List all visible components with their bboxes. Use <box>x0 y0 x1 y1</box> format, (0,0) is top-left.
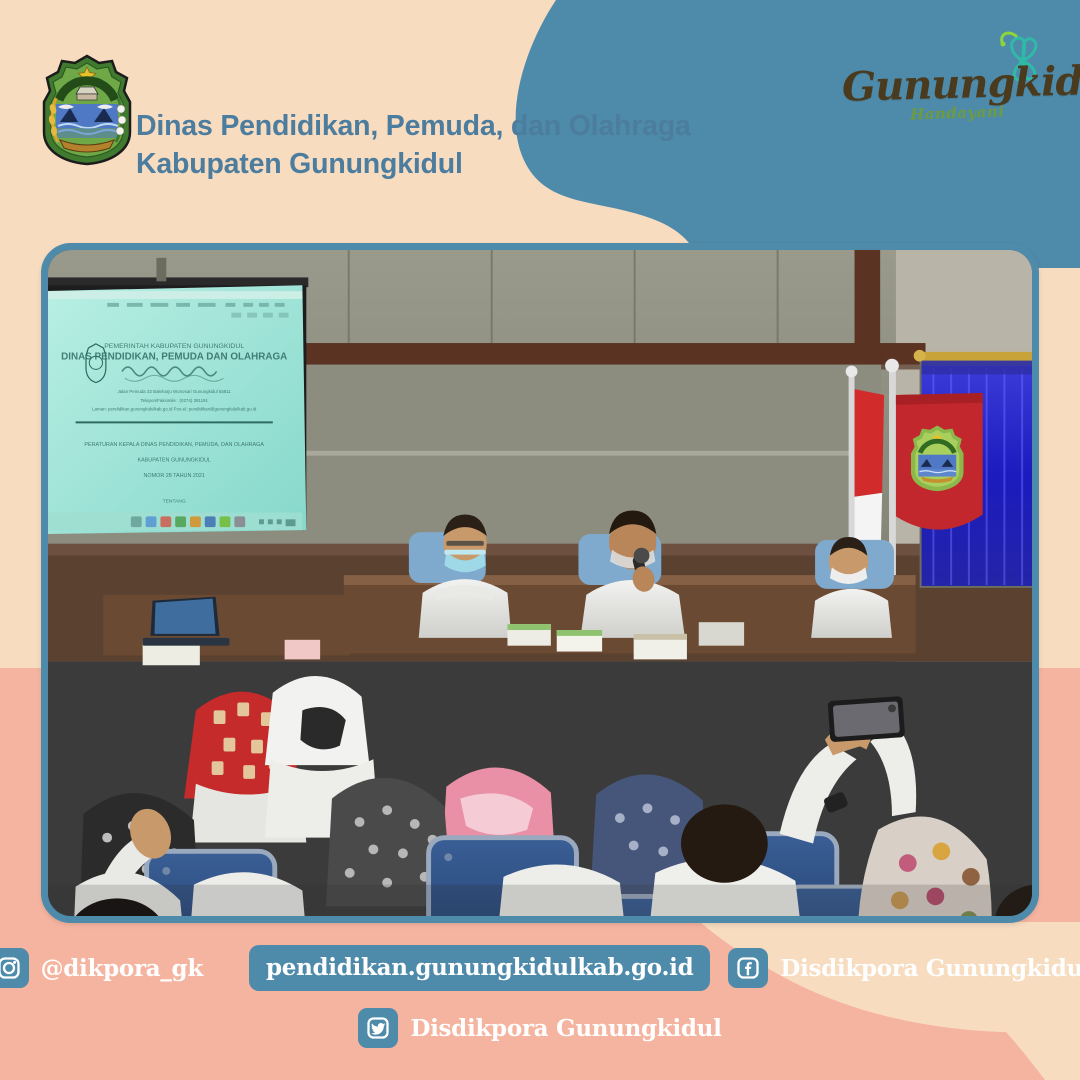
instagram-icon[interactable] <box>0 948 29 988</box>
svg-text:DINAS PENDIDIKAN, PEMUDA DAN O: DINAS PENDIDIKAN, PEMUDA DAN OLAHRAGA <box>61 352 287 363</box>
brand-name: Gunungkidul <box>841 56 1080 110</box>
social-item-twitter[interactable]: Disdikpora Gunungkidul <box>358 1008 721 1048</box>
instagram-handle: @dikpora_gk <box>41 955 203 982</box>
svg-text:NOMOR 28 TAHUN 2021: NOMOR 28 TAHUN 2021 <box>143 473 204 479</box>
facebook-page-name: Disdikpora Gunungkidul <box>780 955 1080 982</box>
event-photo-frame: PEMERINTAH KABUPATEN GUNUNGKIDUL DINAS P… <box>41 243 1039 923</box>
title-line-1: Dinas Pendidikan, Pemuda, dan Olahraga <box>136 110 691 142</box>
footer-social-bar: @dikpora_gk pendidikan.gunungkidulkab.go… <box>0 940 1080 1080</box>
facebook-icon[interactable] <box>728 948 768 988</box>
title-line-2: Kabupaten Gunungkidul <box>136 146 691 184</box>
gunungkidul-brand-logo: Gunungkidul Handayani <box>832 22 1062 134</box>
footer-row-primary: @dikpora_gk pendidikan.gunungkidulkab.go… <box>0 945 1080 991</box>
event-photo: PEMERINTAH KABUPATEN GUNUNGKIDUL DINAS P… <box>48 250 1032 916</box>
svg-text:KABUPATEN GUNUNGKIDUL: KABUPATEN GUNUNGKIDUL <box>137 458 210 464</box>
svg-text:Jalan Pemuda 32 Baleharjo Wono: Jalan Pemuda 32 Baleharjo Wonosari Gunun… <box>118 389 232 394</box>
social-item-instagram[interactable]: @dikpora_gk <box>0 948 203 988</box>
svg-text:Laman: pendidikan.gunungkidulk: Laman: pendidikan.gunungkidulkab.go.id P… <box>92 407 257 412</box>
svg-text:PERATURAN KEPALA DINAS PENDIDI: PERATURAN KEPALA DINAS PENDIDIKAN, PEMUD… <box>84 442 264 448</box>
footer-row-secondary: Disdikpora Gunungkidul <box>0 1008 1080 1048</box>
gunungkidul-pennant-icon <box>896 393 983 530</box>
social-item-facebook[interactable]: Disdikpora Gunungkidul <box>728 948 1080 988</box>
svg-text:Telepon/Faksimile : (0274) 391: Telepon/Faksimile : (0274) 391191 <box>140 398 208 403</box>
twitter-account-name: Disdikpora Gunungkidul <box>410 1015 721 1042</box>
twitter-icon[interactable] <box>358 1008 398 1048</box>
page-header: Dinas Pendidikan, Pemuda, dan Olahraga K… <box>0 0 1080 210</box>
svg-text:TENTANG: TENTANG <box>163 499 186 505</box>
gunungkidul-coat-of-arms-icon <box>42 54 132 166</box>
website-url-pill[interactable]: pendidikan.gunungkidulkab.go.id <box>249 945 710 991</box>
page-title: Dinas Pendidikan, Pemuda, dan Olahraga K… <box>136 70 691 222</box>
brand-tagline: Handayani <box>910 102 1005 123</box>
svg-text:PEMERINTAH KABUPATEN GUNUNGKID: PEMERINTAH KABUPATEN GUNUNGKIDUL <box>104 343 244 350</box>
